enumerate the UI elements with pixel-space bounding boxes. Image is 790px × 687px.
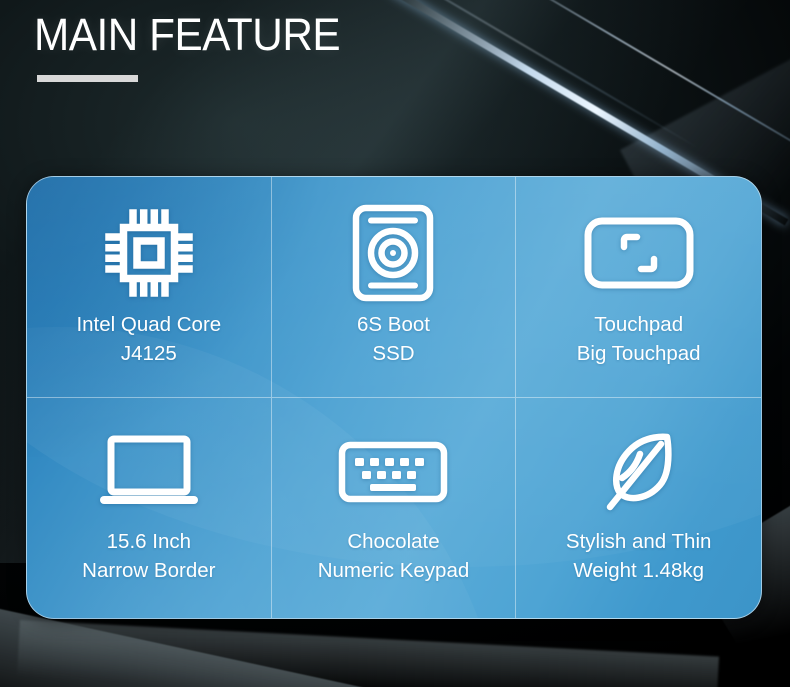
feature-cell-screen: 15.6 Inch Narrow Border <box>27 398 272 619</box>
feature-cell-touchpad: Touchpad Big Touchpad <box>516 177 761 398</box>
feature-label-line1: Chocolate <box>347 528 439 556</box>
feature-label-line1: 15.6 Inch <box>107 528 191 556</box>
feature-label-line1: Intel Quad Core <box>76 311 221 339</box>
title-underline-rule <box>37 75 138 82</box>
feature-label-line1: Touchpad <box>594 311 683 339</box>
feature-label-line2: Weight 1.48kg <box>573 557 704 585</box>
feature-label-line2: Numeric Keypad <box>318 557 470 585</box>
feature-label-line2: J4125 <box>121 340 177 368</box>
feature-label-line2: Narrow Border <box>82 557 215 585</box>
touchpad-icon <box>584 201 694 305</box>
page-title: MAIN FEATURE <box>34 8 340 61</box>
feature-label-line1: Stylish and Thin <box>566 528 711 556</box>
feature-cell-weight: Stylish and Thin Weight 1.48kg <box>516 398 761 619</box>
feature-label-line1: 6S Boot <box>357 311 430 339</box>
main-feature-banner: MAIN FEATURE <box>0 0 790 687</box>
feature-cell-keyboard: Chocolate Numeric Keypad <box>272 398 517 619</box>
cpu-chip-icon <box>103 201 195 305</box>
feature-cell-cpu: Intel Quad Core J4125 <box>27 177 272 398</box>
banner-header: MAIN FEATURE <box>34 8 360 82</box>
hard-drive-ssd-icon <box>352 201 434 305</box>
feature-label-line2: SSD <box>372 340 414 368</box>
feather-icon <box>597 426 681 518</box>
feature-label-line2: Big Touchpad <box>577 340 701 368</box>
feature-cell-ssd: 6S Boot SSD <box>272 177 517 398</box>
feature-grid: Intel Quad Core J4125 6S Boot SSD <box>27 177 761 618</box>
feature-panel: Intel Quad Core J4125 6S Boot SSD <box>26 176 762 619</box>
laptop-icon <box>97 426 201 518</box>
keyboard-icon <box>338 426 448 518</box>
